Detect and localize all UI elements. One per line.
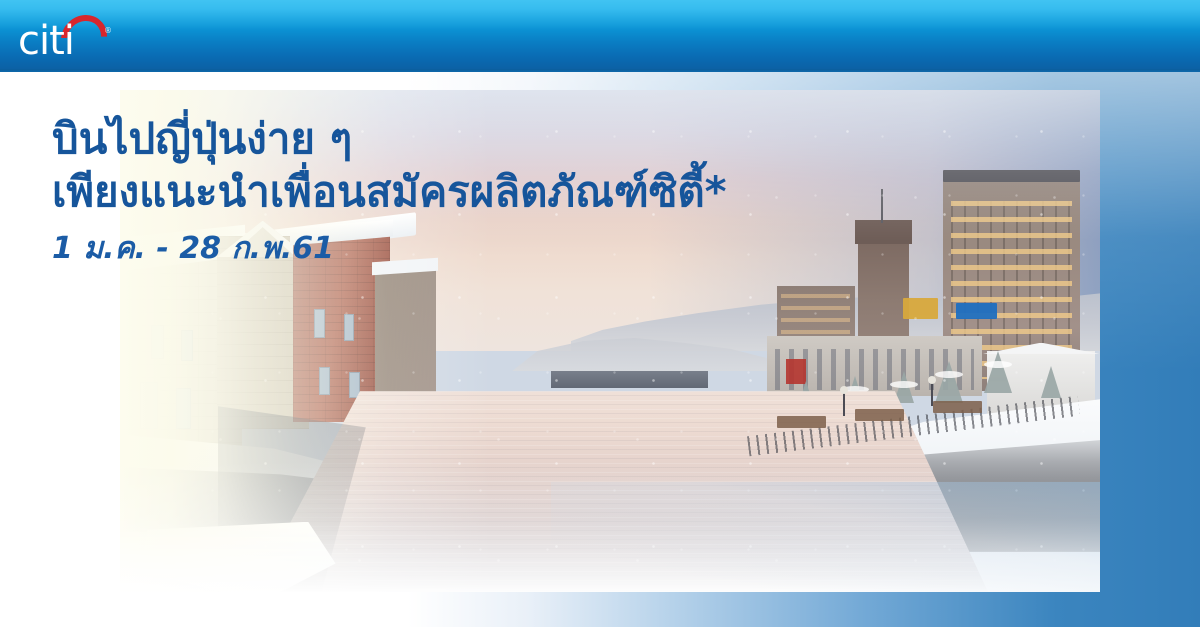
- promo-copy: บินไปญี่ปุ่นง่าย ๆ เพียงแนะนำเพื่อนสมัคร…: [52, 112, 872, 267]
- window: [349, 372, 359, 398]
- registered-mark-icon: ®: [104, 26, 112, 35]
- window: [344, 314, 354, 340]
- blue-door: [140, 382, 157, 429]
- blue-sign: [956, 303, 997, 319]
- blue-door: [176, 388, 191, 430]
- citi-logo[interactable]: citi ®: [18, 14, 114, 62]
- window: [314, 309, 325, 338]
- promo-date-range: 1 ม.ค. - 28 ก.พ.61: [52, 231, 872, 267]
- street-lamp: [843, 391, 845, 416]
- window: [181, 330, 193, 361]
- conifer-tree: [984, 351, 1012, 393]
- yellow-sign: [903, 298, 938, 319]
- promo-banner: citi ®: [0, 0, 1200, 627]
- window: [151, 325, 164, 359]
- header-bar: citi ®: [0, 0, 1200, 72]
- street-lamp: [931, 381, 933, 406]
- header-sheen: [0, 0, 1200, 30]
- bench: [855, 409, 904, 421]
- red-sign: [786, 359, 806, 384]
- header-underline: [0, 69, 1200, 72]
- headline-line-1: บินไปญี่ปุ่นง่าย ๆ: [52, 112, 872, 167]
- headline-line-2: เพียงแนะนำเพื่อนสมัครผลิตภัณฑ์ซิตี้*: [52, 165, 872, 220]
- conifer-tree: [935, 361, 963, 403]
- bench: [777, 416, 826, 428]
- citi-logo-text: citi: [18, 20, 74, 62]
- bench: [933, 401, 982, 413]
- conifer-tree: [1041, 366, 1061, 398]
- window: [319, 367, 330, 396]
